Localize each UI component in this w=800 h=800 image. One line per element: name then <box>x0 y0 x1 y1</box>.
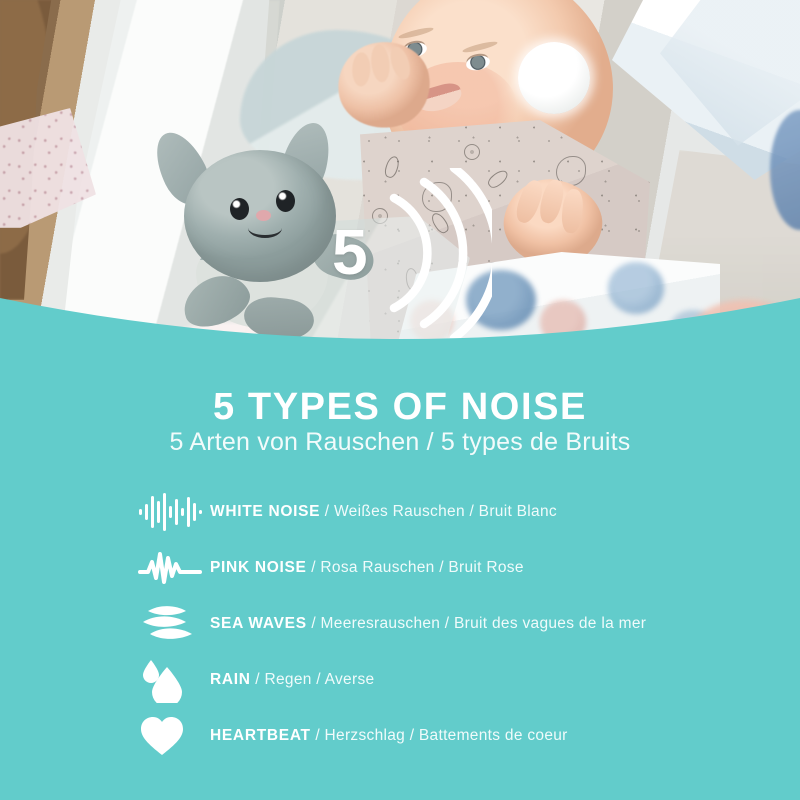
teal-curve-divider <box>0 288 800 368</box>
sea-waves-icon <box>138 601 210 647</box>
info-panel: 5 TYPES OF NOISE 5 Arten von Rauschen / … <box>0 358 800 800</box>
list-item-white-noise: WHITE NOISE / Weißes Rauschen / Bruit Bl… <box>138 484 758 540</box>
noise-translations: / Regen / Averse <box>255 671 374 688</box>
white-pompom <box>518 42 590 114</box>
product-infographic: 5 5 TYPES OF NOISE 5 Arten von Rauschen … <box>0 0 800 800</box>
list-item-label: SEA WAVES / Meeresrauschen / Bruit des v… <box>210 615 646 633</box>
noise-translations: / Rosa Rauschen / Bruit Rose <box>311 559 524 576</box>
noise-translations: / Meeresrauschen / Bruit des vagues de l… <box>311 615 646 632</box>
toy-eye-left <box>230 198 249 220</box>
toy-mouth <box>248 218 282 238</box>
noise-name: PINK NOISE <box>210 559 307 576</box>
noise-translations: / Herzschlag / Battements de coeur <box>315 727 567 744</box>
list-item-label: HEARTBEAT / Herzschlag / Battements de c… <box>210 727 568 745</box>
list-item-rain: RAIN / Regen / Averse <box>138 652 758 708</box>
finger <box>369 43 391 83</box>
page-subtitle: 5 Arten von Rauschen / 5 types de Bruits <box>0 428 800 457</box>
list-item-heartbeat: HEARTBEAT / Herzschlag / Battements de c… <box>138 708 758 764</box>
pattern-flower <box>464 144 480 160</box>
pink-noise-waveform-icon <box>138 545 210 591</box>
heartbeat-heart-icon <box>138 713 210 759</box>
noise-translations: / Weißes Rauschen / Bruit Blanc <box>325 503 557 520</box>
noise-name: HEARTBEAT <box>210 727 311 744</box>
finger <box>352 52 371 87</box>
list-item-sea-waves: SEA WAVES / Meeresrauschen / Bruit des v… <box>138 596 758 652</box>
noise-name: WHITE NOISE <box>210 503 320 520</box>
noise-name: RAIN <box>210 671 251 688</box>
noise-types-list: WHITE NOISE / Weißes Rauschen / Bruit Bl… <box>138 484 758 764</box>
finger <box>387 44 414 82</box>
noise-name: SEA WAVES <box>210 615 307 632</box>
toy-eye-right <box>276 190 295 212</box>
page-title: 5 TYPES OF NOISE <box>0 386 800 429</box>
list-item-label: RAIN / Regen / Averse <box>210 671 374 689</box>
rain-droplets-icon <box>138 657 210 703</box>
list-item-label: WHITE NOISE / Weißes Rauschen / Bruit Bl… <box>210 503 557 521</box>
badge-number: 5 <box>332 220 367 284</box>
list-item-pink-noise: PINK NOISE / Rosa Rauschen / Bruit Rose <box>138 540 758 596</box>
finger <box>560 188 584 234</box>
list-item-label: PINK NOISE / Rosa Rauschen / Bruit Rose <box>210 559 524 577</box>
white-noise-waveform-icon <box>138 489 210 535</box>
